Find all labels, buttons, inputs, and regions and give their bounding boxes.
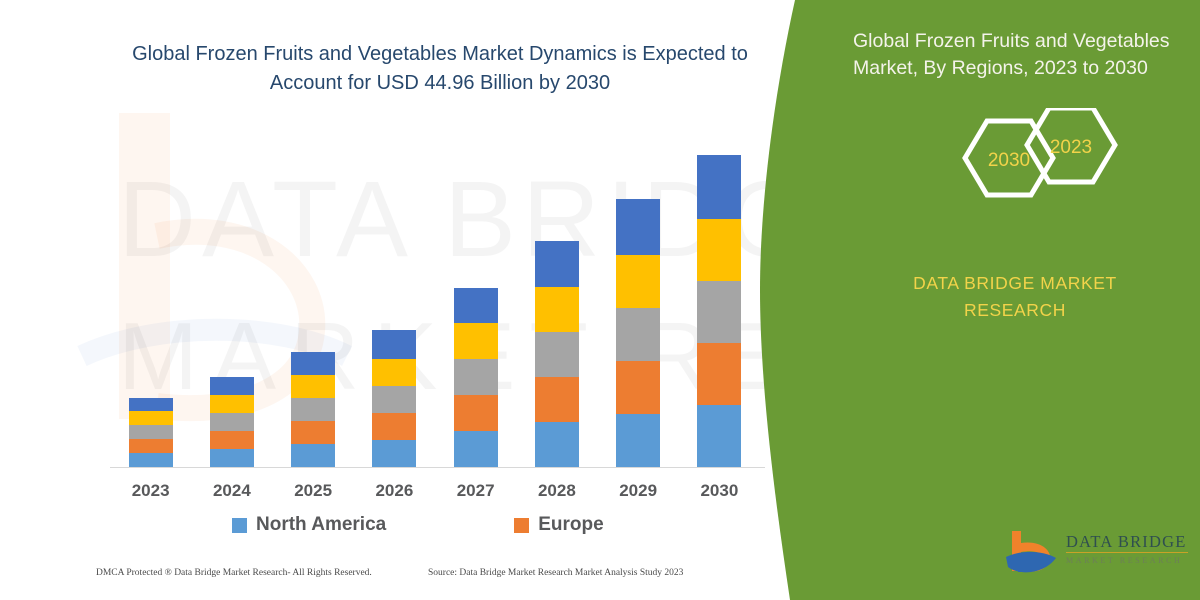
page-title: Global Frozen Fruits and Vegetables Mark…: [130, 40, 750, 98]
bar-2028[interactable]: [535, 241, 579, 467]
logo-divider: [1066, 552, 1188, 553]
bar-segment: [372, 330, 416, 359]
hexagon-svg: 2030 2023: [925, 108, 1135, 228]
bar-segment: [454, 431, 498, 467]
right-green-panel: Global Frozen Fruits and Vegetables Mark…: [735, 0, 1200, 600]
bar-segment: [616, 308, 660, 361]
x-axis-label-2027: 2027: [454, 481, 498, 501]
footer-copyright: DMCA Protected ® Data Bridge Market Rese…: [96, 568, 372, 578]
bar-2024[interactable]: [210, 377, 254, 467]
bar-segment: [210, 377, 254, 395]
panel-title: Global Frozen Fruits and Vegetables Mark…: [853, 28, 1198, 82]
hexagon-2030-label: 2030: [988, 150, 1030, 171]
bar-segment: [616, 414, 660, 467]
bar-segment: [616, 361, 660, 414]
bar-segment: [535, 422, 579, 467]
bar-segment: [291, 375, 335, 398]
infographic-root: DATA BRIDGE MARKET RESEARCH Global Froze…: [0, 0, 1200, 600]
bar-segment: [535, 287, 579, 332]
bar-segment: [129, 425, 173, 439]
bar-segment: [454, 323, 498, 359]
brand-line-2: RESEARCH: [865, 297, 1165, 324]
x-axis-label-2025: 2025: [291, 481, 335, 501]
footer-source: Source: Data Bridge Market Research Mark…: [428, 568, 683, 578]
bar-2026[interactable]: [372, 330, 416, 467]
green-panel-content: Global Frozen Fruits and Vegetables Mark…: [735, 0, 1200, 600]
bar-segment: [129, 439, 173, 453]
bar-segment: [291, 444, 335, 467]
bar-segment: [291, 352, 335, 375]
logo-tagline: MARKET RESEARCH: [1066, 556, 1194, 565]
bar-segment: [535, 377, 579, 422]
bar-segment: [210, 413, 254, 431]
brand-name: DATA BRIDGE MARKET RESEARCH: [865, 270, 1165, 324]
bar-segment: [372, 359, 416, 386]
legend-item[interactable]: North America: [232, 514, 386, 536]
bar-segment: [291, 421, 335, 444]
x-axis-label-2024: 2024: [210, 481, 254, 501]
bar-segment: [129, 453, 173, 467]
bar-2029[interactable]: [616, 199, 660, 467]
company-logo: DATA BRIDGE MARKET RESEARCH: [1000, 527, 1190, 583]
bar-segment: [210, 449, 254, 467]
brand-line-1: DATA BRIDGE MARKET: [865, 270, 1165, 297]
x-axis-label-2029: 2029: [616, 481, 660, 501]
legend-swatch: [514, 518, 529, 533]
bar-segment: [454, 359, 498, 395]
x-axis-label-2023: 2023: [129, 481, 173, 501]
bar-segment: [616, 255, 660, 308]
logo-name: DATA BRIDGE: [1066, 532, 1194, 551]
bar-segment: [129, 411, 173, 425]
bar-2027[interactable]: [454, 288, 498, 467]
bar-segment: [129, 398, 173, 411]
bar-segment: [535, 241, 579, 287]
hexagon-badges: 2030 2023: [925, 108, 1135, 228]
legend-swatch: [232, 518, 247, 533]
legend-label: Europe: [538, 514, 603, 536]
bar-segment: [372, 413, 416, 440]
legend-item[interactable]: Europe: [514, 514, 603, 536]
hexagon-2023-label: 2023: [1050, 137, 1092, 158]
bar-segment: [454, 288, 498, 323]
bar-segment: [210, 395, 254, 413]
x-axis-labels: 20232024202520262027202820292030: [110, 478, 760, 504]
bar-segment: [210, 431, 254, 449]
x-axis-label-2026: 2026: [372, 481, 416, 501]
bar-segment: [372, 440, 416, 467]
chart-legend: North AmericaEurope: [232, 510, 652, 540]
logo-text-block: DATA BRIDGE MARKET RESEARCH: [1066, 532, 1194, 565]
x-axis-label-2028: 2028: [535, 481, 579, 501]
bar-segment: [616, 199, 660, 255]
logo-bridge-icon: [1000, 527, 1062, 583]
bar-segment: [535, 332, 579, 377]
bar-2025[interactable]: [291, 352, 335, 467]
bar-segment: [454, 395, 498, 431]
bar-chart-plot: [110, 120, 760, 467]
footer: DMCA Protected ® Data Bridge Market Rese…: [0, 565, 770, 589]
bar-segment: [372, 386, 416, 413]
legend-label: North America: [256, 514, 386, 536]
x-axis-line: [110, 467, 765, 468]
bar-2023[interactable]: [129, 398, 173, 467]
bar-segment: [291, 398, 335, 421]
